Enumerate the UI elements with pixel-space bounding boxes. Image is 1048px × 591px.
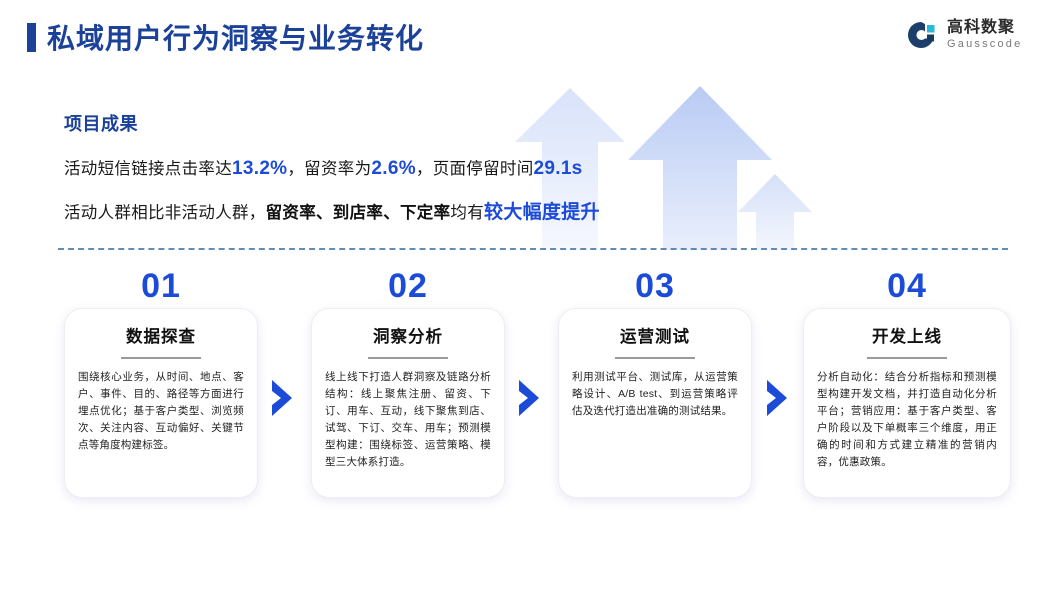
step-number: 03 bbox=[558, 268, 752, 304]
step-number: 04 bbox=[803, 268, 1011, 304]
results-line2-emphasis: 留资率、到店率、下定率 bbox=[266, 204, 451, 222]
stat-overall-lift: 较大幅度提升 bbox=[484, 202, 600, 223]
stat-dwell-time: 29.1s bbox=[534, 158, 583, 179]
step-card-body: 数据探查 围绕核心业务，从时间、地点、客户、事件、目的、路径等方面进行埋点优化；… bbox=[64, 308, 258, 498]
stat-lead-rate: 2.6% bbox=[371, 158, 416, 179]
results-line1-seg3: ，页面停留时间 bbox=[416, 160, 534, 178]
logo-text-block: 高科数聚 Gausscode bbox=[947, 20, 1022, 50]
slide-header: 私域用户行为洞察与业务转化 bbox=[0, 0, 1048, 78]
slide-root: 私域用户行为洞察与业务转化 高科数聚 Gausscode bbox=[0, 0, 1048, 591]
step-title: 开发上线 bbox=[804, 323, 1010, 347]
step-title-rule bbox=[615, 357, 695, 359]
stat-click-rate: 13.2% bbox=[232, 158, 287, 179]
step-card-body: 开发上线 分析自动化：结合分析指标和预测模型构建开发文档，并打造自动化分析平台；… bbox=[803, 308, 1011, 498]
logo-name-cn: 高科数聚 bbox=[947, 20, 1022, 36]
chevron-right-icon bbox=[517, 378, 541, 418]
step-number: 01 bbox=[64, 268, 258, 304]
step-title-rule bbox=[867, 357, 947, 359]
step-card-body: 运营测试 利用测试平台、测试库，从运营策略设计、A/B test、到运营策略评估… bbox=[558, 308, 752, 498]
chevron-right-icon bbox=[765, 378, 789, 418]
step-title: 洞察分析 bbox=[312, 323, 504, 347]
results-line2-seg2: 均有 bbox=[450, 204, 484, 222]
results-line1-seg1: 活动短信链接点击率达 bbox=[64, 160, 232, 178]
results-block: 项目成果 活动短信链接点击率达13.2%，留资率为2.6%，页面停留时间29.1… bbox=[64, 110, 704, 224]
title-marker-icon bbox=[27, 23, 36, 52]
results-line-2: 活动人群相比非活动人群，留资率、到店率、下定率均有较大幅度提升 bbox=[64, 197, 704, 224]
step-title: 运营测试 bbox=[559, 323, 751, 347]
results-heading: 项目成果 bbox=[64, 110, 704, 136]
step-description: 利用测试平台、测试库，从运营策略设计、A/B test、到运营策略评估及迭代打造… bbox=[572, 369, 738, 420]
chevron-right-icon bbox=[270, 378, 294, 418]
step-description: 分析自动化：结合分析指标和预测模型构建开发文档，并打造自动化分析平台；营销应用：… bbox=[817, 369, 997, 471]
page-title: 私域用户行为洞察与业务转化 bbox=[47, 17, 424, 57]
step-description: 线上线下打造人群洞察及链路分析结构：线上聚焦注册、留资、下订、用车、互动，线下聚… bbox=[325, 369, 491, 471]
step-title-rule bbox=[121, 357, 201, 359]
brand-logo: 高科数聚 Gausscode bbox=[905, 18, 1022, 52]
step-title: 数据探查 bbox=[65, 323, 257, 347]
section-divider bbox=[58, 248, 1008, 250]
step-title-rule bbox=[368, 357, 448, 359]
step-number: 02 bbox=[311, 268, 505, 304]
results-line-1: 活动短信链接点击率达13.2%，留资率为2.6%，页面停留时间29.1s bbox=[64, 155, 704, 180]
step-description: 围绕核心业务，从时间、地点、客户、事件、目的、路径等方面进行埋点优化；基于客户类… bbox=[78, 369, 244, 454]
logo-name-en: Gausscode bbox=[947, 39, 1022, 50]
results-line1-seg2: ，留资率为 bbox=[287, 160, 371, 178]
gausscode-g-mark-icon bbox=[905, 18, 939, 52]
step-card-body: 洞察分析 线上线下打造人群洞察及链路分析结构：线上聚焦注册、留资、下订、用车、互… bbox=[311, 308, 505, 498]
results-line2-seg1: 活动人群相比非活动人群， bbox=[64, 204, 266, 222]
